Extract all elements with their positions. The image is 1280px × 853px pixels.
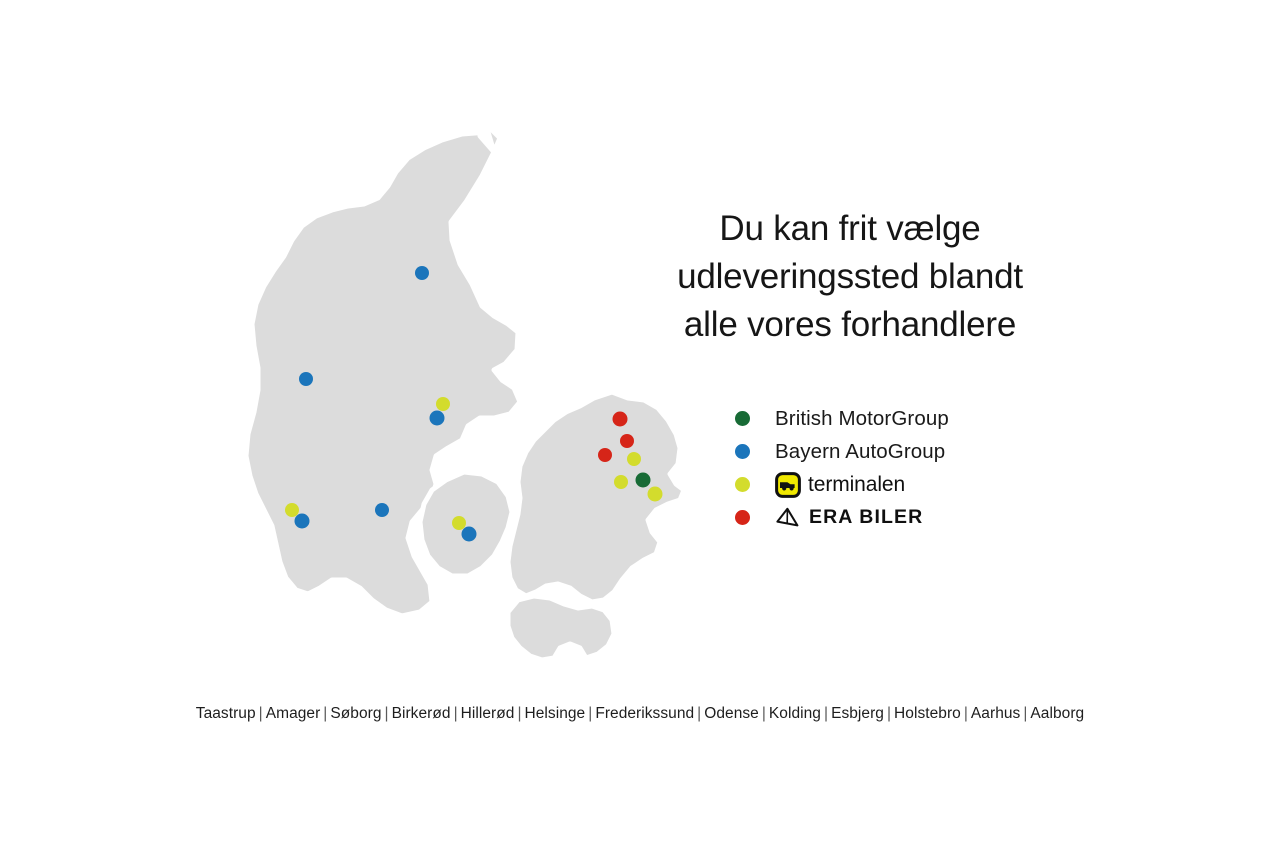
city-name: Esbjerg: [831, 705, 884, 722]
city-separator: |: [320, 705, 330, 722]
city-name: Aalborg: [1030, 705, 1084, 722]
denmark-map: [236, 118, 706, 678]
infographic-canvas: Du kan frit vælge udleveringssted blandt…: [0, 0, 1280, 853]
map-marker[interactable]: [375, 503, 389, 517]
city-separator: |: [884, 705, 894, 722]
legend-item-label: ERA BILER: [775, 506, 923, 529]
city-name: Hillerød: [461, 705, 515, 722]
city-separator: |: [585, 705, 595, 722]
city-separator: |: [256, 705, 266, 722]
city-name: Amager: [266, 705, 321, 722]
map-marker[interactable]: [598, 448, 612, 462]
map-marker[interactable]: [636, 473, 651, 488]
city-separator: |: [451, 705, 461, 722]
map-marker[interactable]: [614, 475, 628, 489]
page-title: Du kan frit vælge udleveringssted blandt…: [640, 205, 1060, 349]
page-title-line-3: alle vores forhandlere: [640, 301, 1060, 349]
legend-item[interactable]: ERA BILER: [735, 501, 1065, 534]
legend-color-swatch: [735, 444, 750, 459]
map-marker[interactable]: [462, 527, 477, 542]
city-separator: |: [382, 705, 392, 722]
era-biler-triangle-icon: [775, 507, 801, 529]
map-marker[interactable]: [620, 434, 634, 448]
map-marker[interactable]: [627, 452, 641, 466]
city-separator: |: [694, 705, 704, 722]
map-marker[interactable]: [436, 397, 450, 411]
city-separator: |: [759, 705, 769, 722]
brand-legend: British MotorGroupBayern AutoGrouptermin…: [735, 402, 1065, 534]
legend-color-swatch: [735, 477, 750, 492]
city-separator: |: [514, 705, 524, 722]
city-list: Taastrup|Amager|Søborg|Birkerød|Hillerød…: [0, 705, 1280, 723]
legend-item-label: terminalen: [775, 472, 905, 498]
map-marker[interactable]: [415, 266, 429, 280]
era-biler-wordmark: ERA BILER: [809, 506, 923, 529]
city-name: Holstebro: [894, 705, 961, 722]
city-name: Birkerød: [392, 705, 451, 722]
map-marker[interactable]: [299, 372, 313, 386]
city-name: Taastrup: [196, 705, 256, 722]
terminalen-badge-icon: [775, 472, 801, 498]
page-title-line-1: Du kan frit vælge: [640, 205, 1060, 253]
legend-item-label: British MotorGroup: [775, 407, 949, 431]
legend-item-label: Bayern AutoGroup: [775, 440, 945, 464]
city-name: Aarhus: [971, 705, 1020, 722]
terminalen-wordmark: terminalen: [808, 473, 905, 497]
map-marker[interactable]: [295, 514, 310, 529]
city-separator: |: [961, 705, 971, 722]
map-marker[interactable]: [613, 412, 628, 427]
map-marker-layer: [236, 118, 706, 678]
map-marker[interactable]: [648, 487, 663, 502]
legend-color-swatch: [735, 510, 750, 525]
city-name: Kolding: [769, 705, 821, 722]
city-name: Søborg: [330, 705, 381, 722]
legend-color-swatch: [735, 411, 750, 426]
map-marker[interactable]: [430, 411, 445, 426]
legend-item[interactable]: terminalen: [735, 468, 1065, 501]
city-separator: |: [1020, 705, 1030, 722]
city-name: Odense: [704, 705, 759, 722]
legend-item[interactable]: Bayern AutoGroup: [735, 435, 1065, 468]
city-name: Helsinge: [525, 705, 586, 722]
era-biler-logo: ERA BILER: [775, 506, 923, 529]
page-title-line-2: udleveringssted blandt: [640, 253, 1060, 301]
legend-item[interactable]: British MotorGroup: [735, 402, 1065, 435]
city-separator: |: [821, 705, 831, 722]
terminalen-logo: terminalen: [775, 472, 905, 498]
city-name: Frederikssund: [595, 705, 694, 722]
